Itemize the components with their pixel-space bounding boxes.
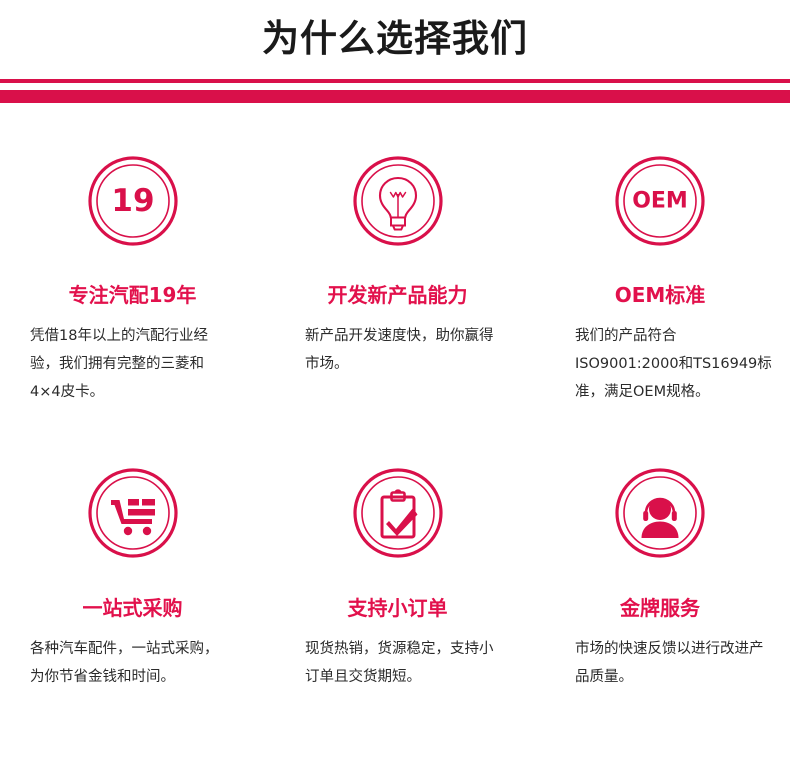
- feature-card: 一站式采购 各种汽车配件，一站式采购，为你节省金钱和时间。: [0, 425, 265, 740]
- oem-text-circle-icon: OEM: [615, 156, 705, 246]
- feature-icon-container: [530, 425, 790, 565]
- feature-card: OEM OEM标准 我们的产品符合ISO9001:2000和TS16949标准，…: [530, 110, 790, 425]
- feature-title: OEM标准: [530, 282, 790, 308]
- feature-body: 凭借18年以上的汽配行业经验，我们拥有完整的三菱和4×4皮卡。: [0, 322, 265, 406]
- icon-inner-label: 19: [111, 183, 154, 219]
- feature-icon-container: [0, 425, 265, 565]
- number-19-circle-icon: 19: [88, 156, 178, 246]
- feature-icon-container: OEM: [530, 110, 790, 250]
- page-header: 为什么选择我们: [0, 0, 790, 110]
- lightbulb-icon: [353, 156, 443, 246]
- feature-title: 一站式采购: [0, 595, 265, 621]
- shopping-cart-icon: [88, 468, 178, 558]
- why-choose-us-page: 为什么选择我们 19 专注汽配19年 凭借18年以上的汽配行业经验，我们拥有完整…: [0, 0, 790, 765]
- feature-body: 市场的快速反馈以进行改进产品质量。: [530, 635, 790, 691]
- customer-service-agent-icon: [615, 468, 705, 558]
- icon-inner-label: OEM: [632, 189, 688, 214]
- feature-title: 开发新产品能力: [265, 282, 530, 308]
- feature-card: 开发新产品能力 新产品开发速度快，助你赢得市场。: [265, 110, 530, 425]
- feature-card: 金牌服务 市场的快速反馈以进行改进产品质量。: [530, 425, 790, 740]
- feature-grid: 19 专注汽配19年 凭借18年以上的汽配行业经验，我们拥有完整的三菱和4×4皮…: [0, 110, 790, 740]
- feature-body: 现货热销，货源稳定，支持小订单且交货期短。: [265, 635, 530, 691]
- page-title: 为什么选择我们: [0, 14, 790, 64]
- feature-body: 我们的产品符合ISO9001:2000和TS16949标准，满足OEM规格。: [530, 322, 790, 406]
- divider-thick-rule: [0, 90, 790, 103]
- feature-icon-container: [265, 110, 530, 250]
- feature-card: 支持小订单 现货热销，货源稳定，支持小订单且交货期短。: [265, 425, 530, 740]
- feature-body: 新产品开发速度快，助你赢得市场。: [265, 322, 530, 378]
- feature-icon-container: 19: [0, 110, 265, 250]
- feature-title: 金牌服务: [530, 595, 790, 621]
- feature-title: 专注汽配19年: [0, 282, 265, 308]
- feature-title: 支持小订单: [265, 595, 530, 621]
- feature-body: 各种汽车配件，一站式采购，为你节省金钱和时间。: [0, 635, 265, 691]
- feature-card: 19 专注汽配19年 凭借18年以上的汽配行业经验，我们拥有完整的三菱和4×4皮…: [0, 110, 265, 425]
- clipboard-check-icon: [353, 468, 443, 558]
- feature-icon-container: [265, 425, 530, 565]
- divider-thin-rule: [0, 79, 790, 83]
